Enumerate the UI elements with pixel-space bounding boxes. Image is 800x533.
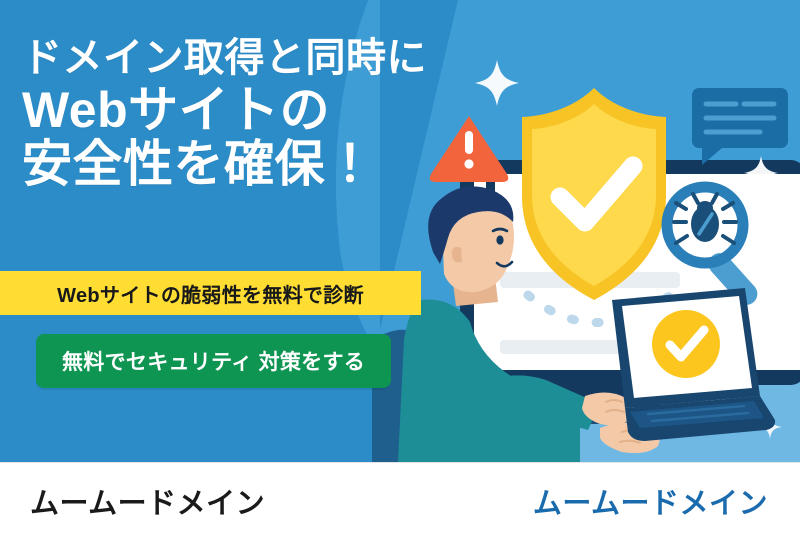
- check-circle-icon: [652, 310, 720, 378]
- headline-line-3: 安全性を確保！: [22, 138, 452, 190]
- cta-button[interactable]: 無料でセキュリティ 対策をする: [36, 334, 391, 388]
- footer-divider: [0, 462, 800, 463]
- headline-line-2: Webサイトの: [22, 84, 452, 136]
- headline-block: ドメイン取得と同時に Webサイトの 安全性を確保！: [22, 38, 452, 190]
- promo-banner: ドメイン取得と同時に Webサイトの 安全性を確保！ Webサイトの脆弱性を無料…: [0, 0, 800, 533]
- headline-line-1: ドメイン取得と同時に: [22, 38, 452, 80]
- chat-bubble-icon: [692, 88, 788, 165]
- logo-right[interactable]: ムームードメイン: [533, 480, 768, 522]
- cta-button-label: 無料でセキュリティ 対策をする: [62, 351, 365, 374]
- footer-bar: ムームードメイン ムームードメイン: [0, 462, 800, 533]
- sub-banner-text: Webサイトの脆弱性を無料で診断: [57, 279, 364, 308]
- logo-left[interactable]: ムームードメイン: [30, 480, 265, 522]
- sub-banner: Webサイトの脆弱性を無料で診断: [0, 271, 421, 315]
